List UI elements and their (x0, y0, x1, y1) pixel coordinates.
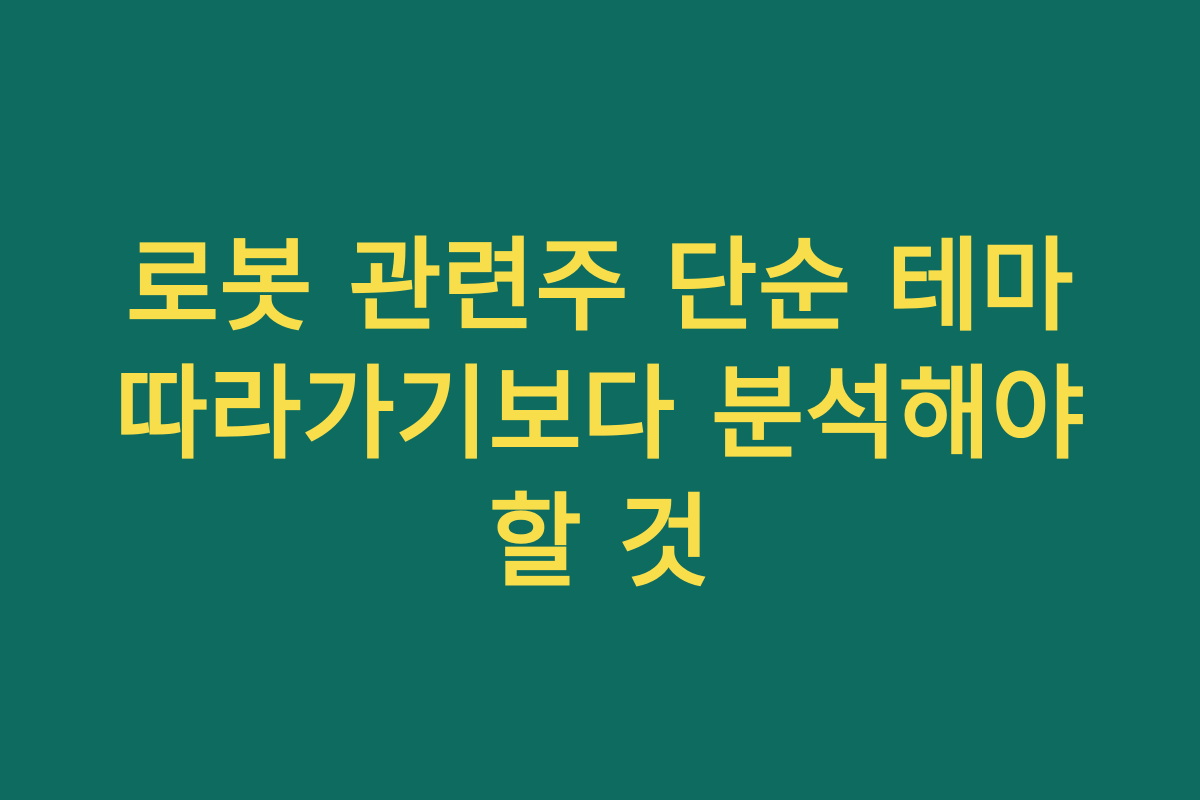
headline-line-2: 따라가기보다 분석해야 (115, 350, 1085, 478)
headline-block: 로봇 관련주 단순 테마 따라가기보다 분석해야 할 것 (80, 222, 1120, 606)
thumbnail-card: 로봇 관련주 단순 테마 따라가기보다 분석해야 할 것 (0, 0, 1200, 800)
headline-line-1: 로봇 관련주 단순 테마 (126, 222, 1074, 350)
headline-line-3: 할 것 (489, 478, 712, 606)
